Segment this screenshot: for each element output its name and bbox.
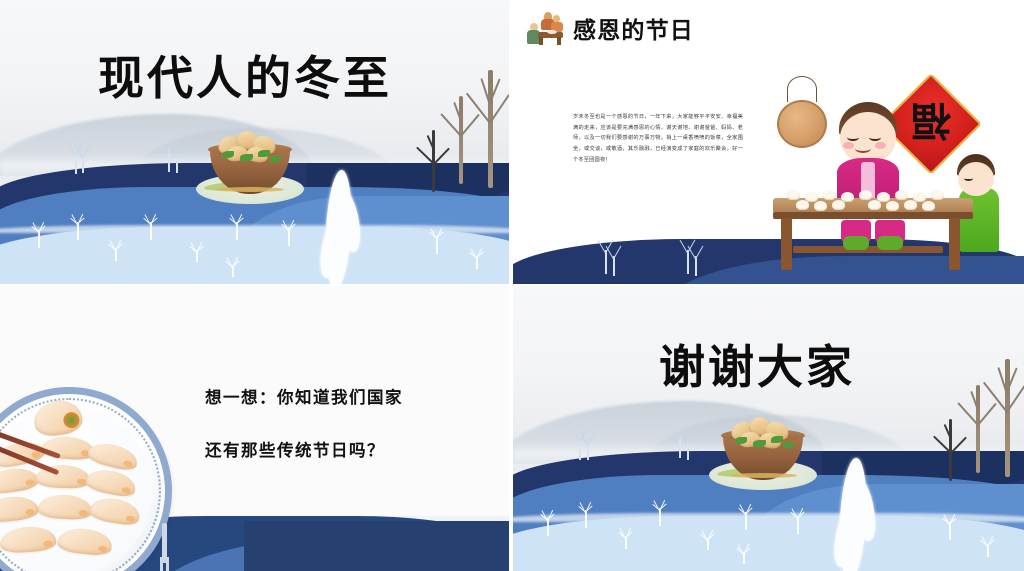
lantern-rope — [787, 76, 817, 102]
dumpling-on-table — [787, 190, 800, 200]
slide-thumbnail-1[interactable]: 现代人的冬至 — [0, 0, 509, 284]
large-bare-tree — [488, 70, 493, 188]
snow-tree-icon — [745, 512, 747, 530]
snow-tree-icon — [115, 248, 117, 261]
bare-tree-icon — [168, 150, 170, 172]
bare-tree-icon — [587, 442, 589, 460]
large-bare-tree-2 — [459, 96, 463, 184]
children-dumpling-illustration: 福 — [763, 80, 1013, 280]
snow-tree-icon — [585, 510, 587, 528]
snow-tree-icon — [77, 222, 79, 240]
garnish — [240, 154, 253, 161]
bare-tree-icon — [605, 250, 607, 274]
dumpling-on-table — [796, 200, 809, 210]
dumpling-on-table — [886, 201, 899, 211]
snow-tree-icon — [707, 538, 709, 550]
bare-tree-icon — [579, 438, 581, 460]
large-bare-tree-2 — [976, 385, 980, 473]
girl-smile — [855, 144, 871, 153]
snow-tree-icon — [38, 230, 40, 248]
family-eating-illustration-icon — [527, 10, 567, 50]
bare-tree-icon — [687, 250, 689, 274]
slide-1-title: 现代人的冬至 — [98, 55, 392, 101]
garnish — [735, 437, 747, 444]
bare-tree-icon — [82, 155, 84, 173]
slide-3-question-line-1: 想一想：你知道我们国家 — [205, 390, 403, 407]
large-bare-tree — [1005, 359, 1010, 477]
snow-tree-icon — [547, 518, 549, 536]
snow-tree-icon — [150, 222, 152, 240]
slide-thumbnail-3[interactable]: 想一想：你知道我们国家 还有那些传统节日吗？ — [0, 286, 509, 571]
bowl-gold-trim — [216, 187, 284, 192]
bare-tree-icon — [695, 256, 697, 276]
table-leg-left — [781, 218, 792, 270]
slide-2-body-text: 岁末冬至也是一个感恩的节日，一年下来，大家能够平平安安、幸福美满的走来，应该是要… — [573, 112, 743, 165]
bare-tree-icon — [176, 154, 178, 173]
snow-tree-icon — [797, 516, 799, 534]
girl-right-cheek — [875, 142, 886, 149]
dumpling-on-table — [823, 190, 836, 200]
slide-2-title: 感恩的节日 — [573, 19, 694, 42]
snow-tree-icon — [625, 536, 627, 549]
snow-tree-icon — [949, 522, 951, 540]
garnish — [783, 442, 794, 448]
table-leg-right — [949, 218, 960, 270]
garnish — [258, 150, 270, 157]
dumpling-on-table — [904, 200, 917, 210]
fork-tine — [166, 557, 169, 571]
slide-thumbnail-grid: 现代人的冬至 感恩的节日 岁末冬至也是一个感恩的节日，一年下来，大家能够平平安安… — [0, 0, 1024, 571]
dumpling-bowl-illustration — [196, 118, 304, 204]
bare-tree-icon — [679, 436, 681, 458]
boy-eye — [964, 176, 973, 181]
slide-thumbnail-2[interactable]: 感恩的节日 岁末冬至也是一个感恩的节日，一年下来，大家能够平平安安、幸福美满的走… — [513, 0, 1024, 284]
snow-tree-icon — [436, 236, 438, 254]
fu-character: 福 — [897, 90, 965, 158]
dumpling-on-table — [931, 190, 944, 200]
dumpling-on-table — [814, 201, 827, 211]
navy-tablecloth — [244, 521, 509, 571]
bamboo-lantern-icon — [777, 100, 827, 148]
girl-shoe-area — [843, 236, 869, 250]
bare-tree-icon — [687, 441, 689, 460]
girl-left-eye — [847, 134, 859, 141]
dumpling-on-table — [859, 190, 872, 200]
garnish — [270, 156, 281, 162]
snow-tree-icon — [743, 552, 745, 564]
snow-tree-icon — [232, 265, 234, 277]
slide-2-header: 感恩的节日 — [527, 10, 694, 50]
snow-tree-icon — [288, 228, 290, 246]
girl-shoe-area-2 — [877, 236, 903, 250]
snow-tree-icon — [476, 256, 478, 269]
garnish — [222, 151, 234, 158]
girl-left-cheek — [843, 142, 854, 149]
slide-3-question-line-2: 还有那些传统节日吗？ — [205, 443, 403, 460]
bare-tree-icon — [613, 256, 615, 276]
dumpling-on-table — [895, 190, 908, 200]
dumpling-on-table — [922, 201, 935, 211]
dumpling-on-table — [832, 200, 845, 210]
bowl-gold-trim — [729, 473, 797, 478]
wooden-table-edge — [773, 212, 973, 219]
snow-tree-icon — [659, 508, 661, 526]
dumpling-on-table — [868, 200, 881, 210]
dumpling-bowl-illustration — [709, 404, 817, 490]
bare-tree-icon — [75, 152, 77, 174]
garnish — [771, 436, 783, 443]
snow-tree-icon — [987, 544, 989, 557]
dumpling-plate-photo — [0, 387, 172, 571]
snow-tree-icon — [236, 222, 238, 240]
dark-bare-tree — [949, 419, 952, 481]
garnish — [753, 440, 766, 447]
slide-3-question-text: 想一想：你知道我们国家 还有那些传统节日吗？ — [205, 390, 403, 459]
slide-thumbnail-4[interactable]: 谢谢大家 — [513, 286, 1024, 571]
snow-tree-icon — [196, 250, 198, 262]
girl-right-eye — [869, 134, 881, 141]
fork-tine — [160, 557, 163, 571]
dark-bare-tree — [432, 130, 435, 192]
slide-4-title: 谢谢大家 — [659, 344, 855, 390]
